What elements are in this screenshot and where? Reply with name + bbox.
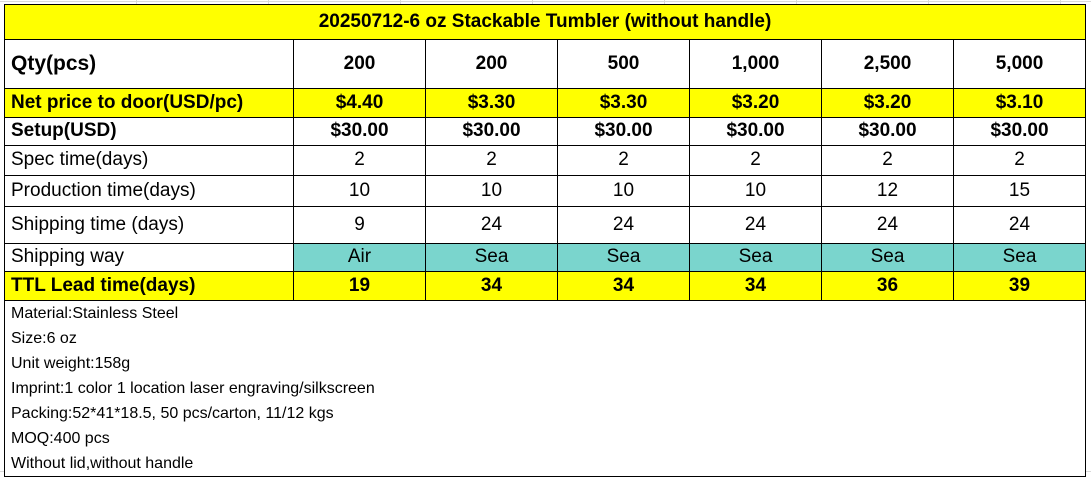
table-row-spec-time: Spec time(days) 2 2 2 2 2 2 xyxy=(5,146,1086,176)
row-label-qty: Qty(pcs) xyxy=(5,40,294,89)
setup-cell-3: $30.00 xyxy=(558,118,690,146)
spec-time-cell-5: 2 xyxy=(822,146,954,176)
qty-cell-2: 200 xyxy=(426,40,558,89)
production-time-cell-6: 15 xyxy=(954,176,1086,207)
setup-cell-5: $30.00 xyxy=(822,118,954,146)
production-time-cell-1: 10 xyxy=(294,176,426,207)
table-row-shipping-way: Shipping way Air Sea Sea Sea Sea Sea xyxy=(5,244,1086,272)
note-material: Material:Stainless Steel xyxy=(11,301,1079,326)
shipping-time-cell-6: 24 xyxy=(954,207,1086,244)
net-price-cell-5: $3.20 xyxy=(822,89,954,118)
qty-cell-1: 200 xyxy=(294,40,426,89)
note-imprint: Imprint:1 color 1 location laser engravi… xyxy=(11,376,1079,401)
table-row-shipping-time: Shipping time (days) 9 24 24 24 24 24 xyxy=(5,207,1086,244)
shipping-time-cell-5: 24 xyxy=(822,207,954,244)
production-time-cell-3: 10 xyxy=(558,176,690,207)
shipping-way-cell-2: Sea xyxy=(426,244,558,272)
shipping-way-cell-6: Sea xyxy=(954,244,1086,272)
qty-cell-5: 2,500 xyxy=(822,40,954,89)
product-notes-block: Material:Stainless Steel Size:6 oz Unit … xyxy=(5,301,1086,477)
ttl-lead-time-cell-1: 19 xyxy=(294,272,426,301)
shipping-time-cell-4: 24 xyxy=(690,207,822,244)
row-label-setup: Setup(USD) xyxy=(5,118,294,146)
shipping-way-cell-3: Sea xyxy=(558,244,690,272)
note-lid-handle: Without lid,without handle xyxy=(11,451,1079,476)
shipping-time-cell-3: 24 xyxy=(558,207,690,244)
row-label-ttl-lead-time: TTL Lead time(days) xyxy=(5,272,294,301)
net-price-cell-3: $3.30 xyxy=(558,89,690,118)
table-row-setup: Setup(USD) $30.00 $30.00 $30.00 $30.00 $… xyxy=(5,118,1086,146)
sheet-title: 20250712-6 oz Stackable Tumbler (without… xyxy=(5,5,1086,40)
net-price-cell-4: $3.20 xyxy=(690,89,822,118)
table-row-notes: Material:Stainless Steel Size:6 oz Unit … xyxy=(5,301,1086,477)
qty-cell-6: 5,000 xyxy=(954,40,1086,89)
setup-cell-6: $30.00 xyxy=(954,118,1086,146)
table-row-net-price: Net price to door(USD/pc) $4.40 $3.30 $3… xyxy=(5,89,1086,118)
qty-cell-4: 1,000 xyxy=(690,40,822,89)
spec-time-cell-1: 2 xyxy=(294,146,426,176)
ttl-lead-time-cell-2: 34 xyxy=(426,272,558,301)
shipping-way-cell-1: Air xyxy=(294,244,426,272)
row-label-net-price: Net price to door(USD/pc) xyxy=(5,89,294,118)
table-row-quantity-header: Qty(pcs) 200 200 500 1,000 2,500 5,000 xyxy=(5,40,1086,89)
production-time-cell-5: 12 xyxy=(822,176,954,207)
spec-time-cell-4: 2 xyxy=(690,146,822,176)
shipping-time-cell-1: 9 xyxy=(294,207,426,244)
spec-time-cell-3: 2 xyxy=(558,146,690,176)
table-row-ttl-lead-time: TTL Lead time(days) 19 34 34 34 36 39 xyxy=(5,272,1086,301)
note-packing: Packing:52*41*18.5, 50 pcs/carton, 11/12… xyxy=(11,401,1079,426)
note-unit-weight: Unit weight:158g xyxy=(11,351,1079,376)
row-label-shipping-way: Shipping way xyxy=(5,244,294,272)
spec-time-cell-2: 2 xyxy=(426,146,558,176)
ttl-lead-time-cell-6: 39 xyxy=(954,272,1086,301)
production-time-cell-2: 10 xyxy=(426,176,558,207)
note-moq: MOQ:400 pcs xyxy=(11,426,1079,451)
setup-cell-2: $30.00 xyxy=(426,118,558,146)
row-label-production-time: Production time(days) xyxy=(5,176,294,207)
shipping-way-cell-4: Sea xyxy=(690,244,822,272)
spec-time-cell-6: 2 xyxy=(954,146,1086,176)
setup-cell-4: $30.00 xyxy=(690,118,822,146)
row-label-shipping-time: Shipping time (days) xyxy=(5,207,294,244)
quotation-sheet: 20250712-6 oz Stackable Tumbler (without… xyxy=(4,4,1085,477)
ttl-lead-time-cell-5: 36 xyxy=(822,272,954,301)
shipping-time-cell-2: 24 xyxy=(426,207,558,244)
note-size: Size:6 oz xyxy=(11,326,1079,351)
shipping-way-cell-5: Sea xyxy=(822,244,954,272)
row-label-spec-time: Spec time(days) xyxy=(5,146,294,176)
production-time-cell-4: 10 xyxy=(690,176,822,207)
net-price-cell-2: $3.30 xyxy=(426,89,558,118)
table-row-title: 20250712-6 oz Stackable Tumbler (without… xyxy=(5,5,1086,40)
net-price-cell-6: $3.10 xyxy=(954,89,1086,118)
quotation-table: 20250712-6 oz Stackable Tumbler (without… xyxy=(4,4,1086,477)
table-row-production-time: Production time(days) 10 10 10 10 12 15 xyxy=(5,176,1086,207)
ttl-lead-time-cell-3: 34 xyxy=(558,272,690,301)
setup-cell-1: $30.00 xyxy=(294,118,426,146)
ttl-lead-time-cell-4: 34 xyxy=(690,272,822,301)
qty-cell-3: 500 xyxy=(558,40,690,89)
net-price-cell-1: $4.40 xyxy=(294,89,426,118)
